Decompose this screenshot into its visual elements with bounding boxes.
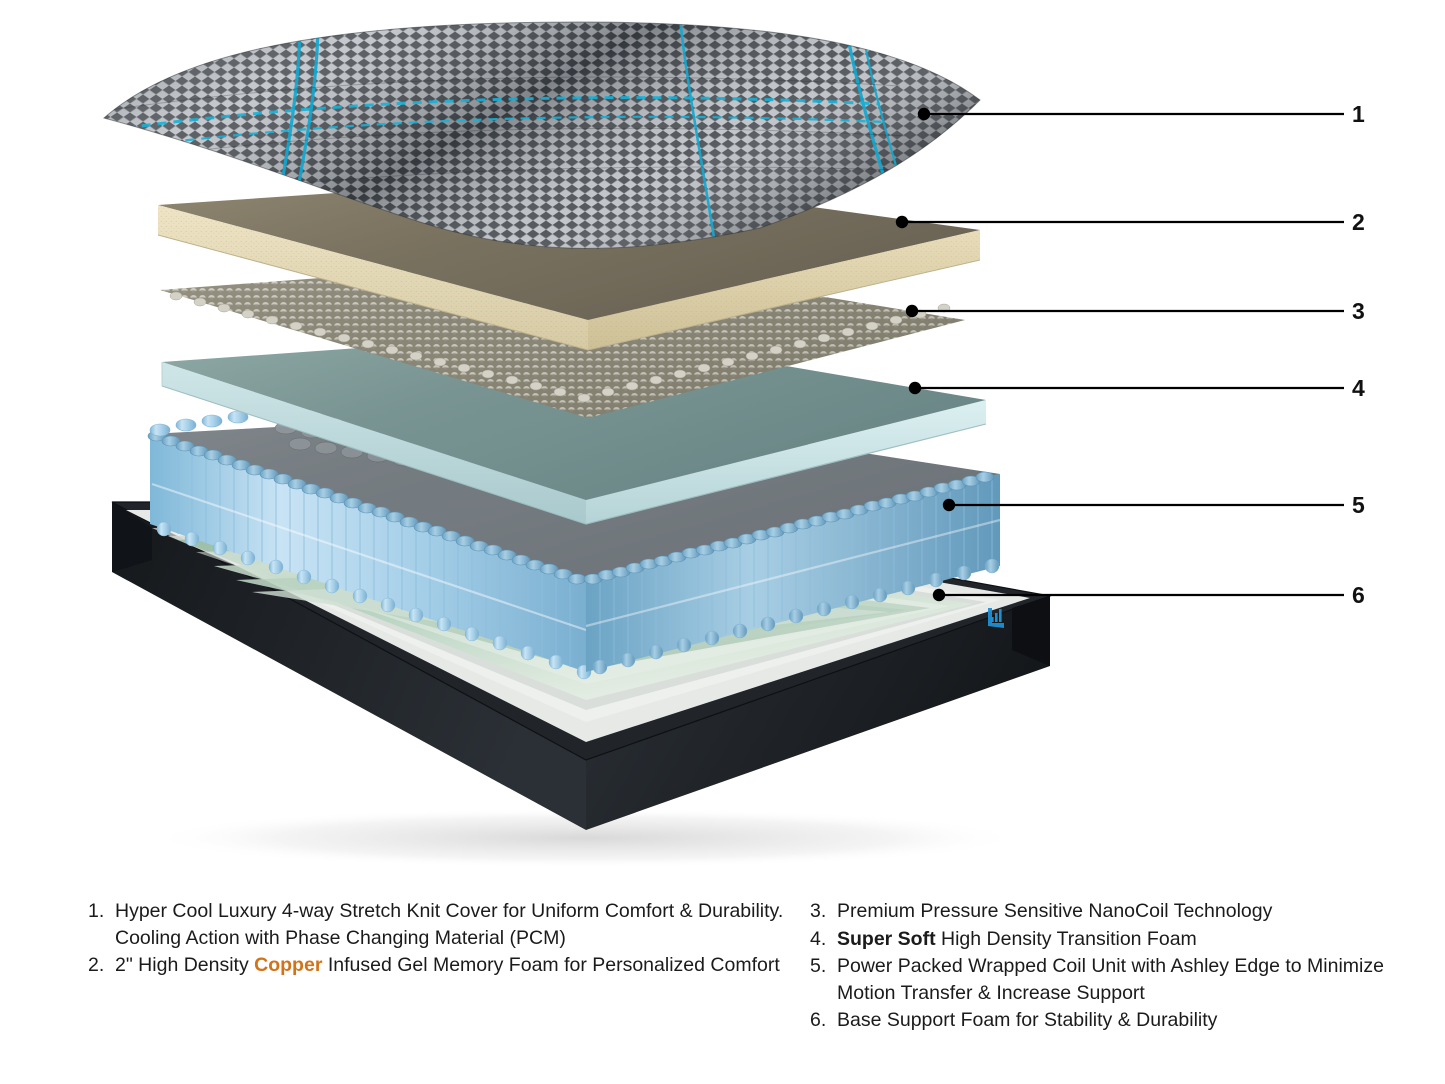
callout-number-5: 5	[1352, 494, 1365, 517]
callout-leader-1	[918, 108, 1344, 120]
callout-number-4: 4	[1352, 377, 1365, 400]
mattress-exploded-diagram: 1 2 3 4 5 6	[0, 0, 1445, 880]
legend-item-3: 3. Premium Pressure Sensitive NanoCoil T…	[810, 898, 1390, 925]
legend-column-right: 3. Premium Pressure Sensitive NanoCoil T…	[810, 898, 1390, 1035]
legend-number-1: 1.	[88, 898, 115, 925]
legend-item-4: 4. Super Soft High Density Transition Fo…	[810, 926, 1390, 953]
callout-leader-2	[896, 216, 1344, 228]
legend-number-5: 5.	[810, 953, 837, 980]
copper-highlight: Copper	[254, 954, 322, 976]
callout-number-6: 6	[1352, 584, 1365, 607]
legend-text-3: Premium Pressure Sensitive NanoCoil Tech…	[837, 898, 1390, 925]
diagram-page: 1 2 3 4 5 6 1. Hyper Cool Luxury 4-way S…	[0, 0, 1445, 1084]
callout-number-3: 3	[1352, 300, 1365, 323]
callout-number-2: 2	[1352, 211, 1365, 234]
legend-text-5: Power Packed Wrapped Coil Unit with Ashl…	[837, 953, 1390, 1006]
legend-number-2: 2.	[88, 952, 115, 979]
callout-leader-4	[909, 382, 1344, 394]
legend-text-2: 2" High Density Copper Infused Gel Memor…	[115, 952, 788, 979]
legend-text-4: Super Soft High Density Transition Foam	[837, 926, 1390, 953]
legend-number-6: 6.	[810, 1007, 837, 1034]
legend-item-6: 6. Base Support Foam for Stability & Dur…	[810, 1007, 1390, 1034]
legend-number-4: 4.	[810, 926, 837, 953]
legend-text-6: Base Support Foam for Stability & Durabi…	[837, 1007, 1390, 1034]
legend-text-1: Hyper Cool Luxury 4-way Stretch Knit Cov…	[115, 898, 788, 951]
legend-item-2: 2. 2" High Density Copper Infused Gel Me…	[88, 952, 788, 979]
legend-item-1: 1. Hyper Cool Luxury 4-way Stretch Knit …	[88, 898, 788, 951]
legend-number-3: 3.	[810, 898, 837, 925]
legend: 1. Hyper Cool Luxury 4-way Stretch Knit …	[0, 898, 1445, 1084]
callout-leader-5	[943, 499, 1344, 511]
callout-number-1: 1	[1352, 103, 1365, 126]
super-soft-emphasis: Super Soft	[837, 928, 936, 950]
legend-item-5: 5. Power Packed Wrapped Coil Unit with A…	[810, 953, 1390, 1006]
legend-column-left: 1. Hyper Cool Luxury 4-way Stretch Knit …	[88, 898, 788, 980]
callout-leader-3	[906, 305, 1344, 317]
